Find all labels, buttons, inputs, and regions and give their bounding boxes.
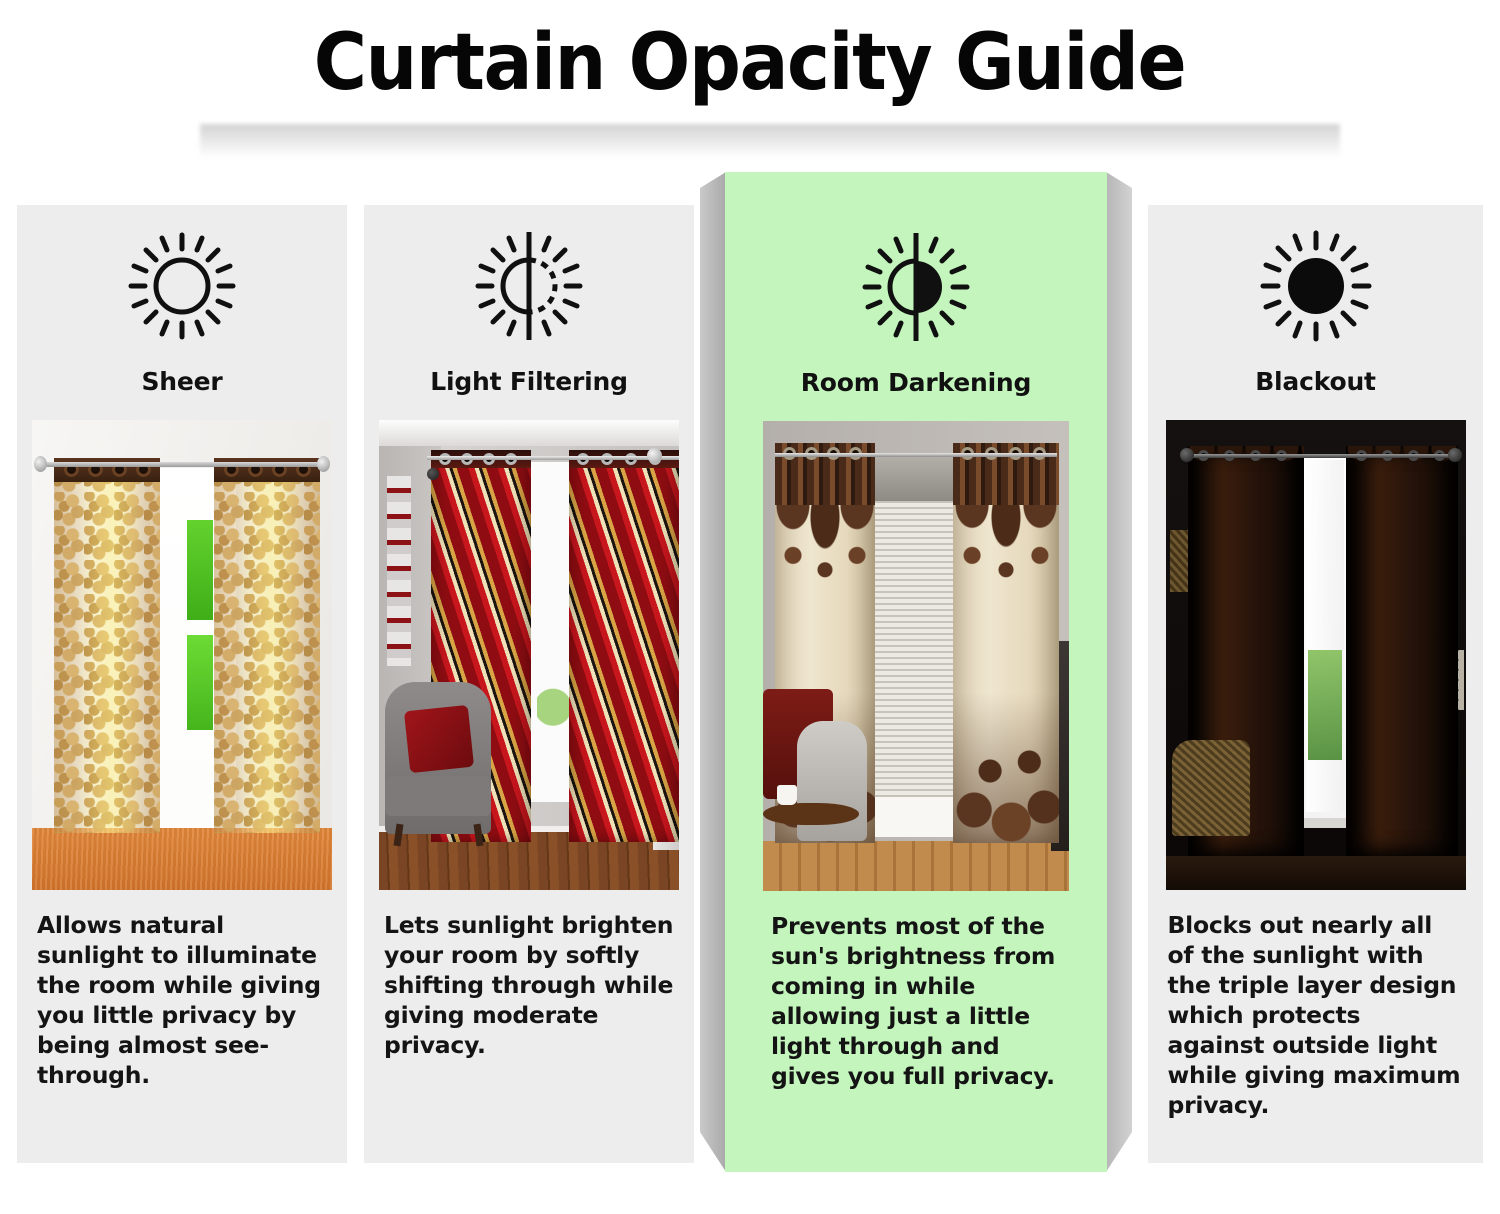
- column-label-light-filtering: Light Filtering: [430, 367, 628, 396]
- photo-light-filtering: [379, 420, 679, 890]
- sun-outline-icon: [126, 227, 238, 345]
- photo-room-darkening: [763, 421, 1069, 891]
- column-label-sheer: Sheer: [141, 367, 222, 396]
- highlight-bevel-right: [1106, 172, 1132, 1172]
- photo-sheer: [32, 420, 332, 890]
- column-room-darkening[interactable]: Room Darkening Prevents most of the sun'…: [725, 172, 1107, 1172]
- column-blackout[interactable]: Blackout Blocks out nearly all of the su…: [1148, 205, 1483, 1163]
- sun-filled-icon: [1260, 227, 1372, 345]
- caption-room-darkening: Prevents most of the sun's brightness fr…: [771, 911, 1061, 1091]
- column-label-blackout: Blackout: [1255, 367, 1376, 396]
- column-sheer[interactable]: Sheer Allows natural sunlight to illumin…: [17, 205, 347, 1163]
- highlight-bevel-left: [700, 172, 726, 1172]
- caption-light-filtering: Lets sunlight brighten your room by soft…: [384, 910, 674, 1060]
- columns-row: Sheer Allows natural sunlight to illumin…: [0, 0, 1500, 1214]
- caption-sheer: Allows natural sunlight to illuminate th…: [37, 910, 327, 1090]
- sun-half-dashed-icon: [473, 227, 585, 345]
- column-label-room-darkening: Room Darkening: [801, 368, 1031, 397]
- infographic-root: Curtain Opacity Guide: [0, 0, 1500, 1214]
- sun-half-filled-icon: [860, 228, 972, 346]
- column-light-filtering[interactable]: Light Filtering Lets sunlight brighten y…: [364, 205, 694, 1163]
- caption-blackout: Blocks out nearly all of the sunlight wi…: [1168, 910, 1464, 1121]
- photo-blackout: [1166, 420, 1466, 890]
